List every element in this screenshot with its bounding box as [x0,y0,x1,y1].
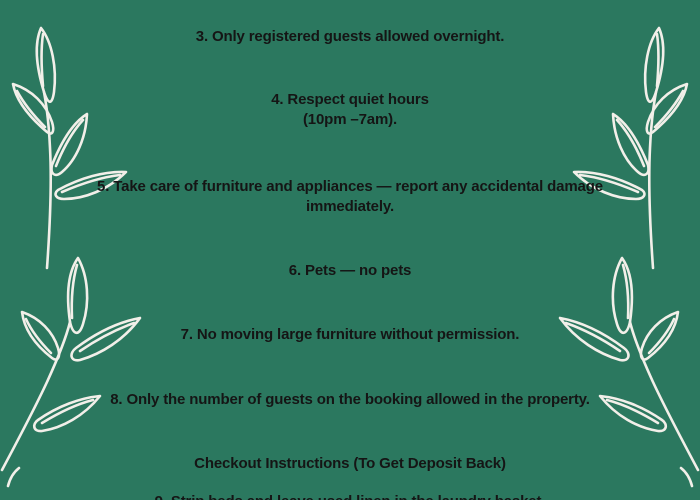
rule-9-clipped-text: 9. Strip beds and leave used linen in th… [155,493,546,500]
rule-item-8: 8. Only the number of guests on the book… [0,390,700,410]
rule-4-line-1: 4. Respect quiet hours [271,91,429,108]
rule-3-line-1: 3. Only registered guests allowed overni… [196,28,504,45]
checkout-instructions-heading-text: Checkout Instructions (To Get Deposit Ba… [194,455,506,472]
rule-item-9-clipped: 9. Strip beds and leave used linen in th… [0,492,700,500]
rule-item-4: 4. Respect quiet hours (10pm –7am). [0,90,700,130]
rule-8-line-1: 8. Only the number of guests on the book… [110,391,590,408]
rule-6-line-1: 6. Pets — no pets [289,262,411,279]
rule-item-6: 6. Pets — no pets [0,261,700,281]
rule-7-line-1: 7. No moving large furniture without per… [181,326,520,343]
rule-item-5: 5. Take care of furniture and appliances… [0,177,700,217]
rule-5-line-1: 5. Take care of furniture and appliances… [97,178,603,195]
checkout-instructions-heading: Checkout Instructions (To Get Deposit Ba… [0,454,700,474]
house-rules-list: 3. Only registered guests allowed overni… [0,0,700,500]
rule-item-3: 3. Only registered guests allowed overni… [0,27,700,47]
house-rules-poster: 3. Only registered guests allowed overni… [0,0,700,500]
rule-4-line-2: (10pm –7am). [14,110,686,130]
rule-5-line-2: immediately. [14,197,686,217]
rule-item-7: 7. No moving large furniture without per… [0,325,700,345]
